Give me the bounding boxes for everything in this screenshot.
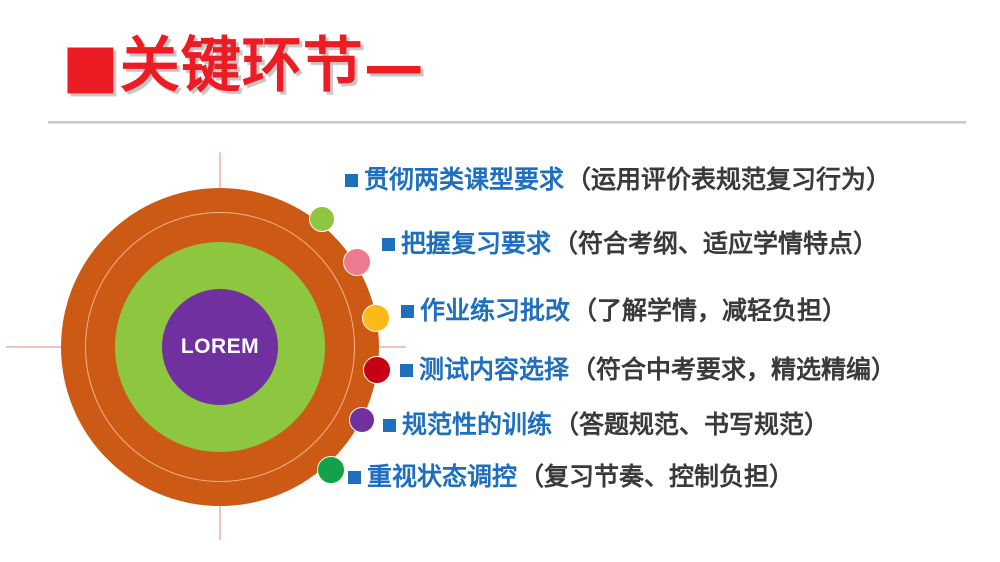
bullet-key-5: 规范性的训练 [402,411,552,440]
page-title: ■关键环节— [62,36,425,96]
bullet-row-4: 测试内容选择 （符合中考要求，精选精编） [400,356,896,385]
bullet-note-5: （答题规范、书写规范） [554,411,829,440]
square-bullet-icon [382,238,395,251]
bullet-note-4: （符合中考要求，精选精编） [571,356,896,385]
square-bullet-icon [345,174,358,187]
slide-title-block: ■关键环节— [62,28,425,104]
square-bullet-icon [383,419,396,432]
bullet-note-6: （复习节奏、控制负担） [519,463,794,492]
bullet-key-4: 测试内容选择 [419,356,569,385]
slide-canvas: ■关键环节— LOREM 贯彻两类课型要求 （运用评价表规范复习行为） 把握复习… [0,0,1000,562]
bullet-key-3: 作业练习批改 [420,297,570,326]
bullet-key-1: 贯彻两类课型要求 [364,166,564,195]
bullet-row-6: 重视状态调控 （复习节奏、控制负担） [348,463,794,492]
bullet-list: 贯彻两类课型要求 （运用评价表规范复习行为） 把握复习要求 （符合考纲、适应学情… [0,140,1000,560]
bullet-note-3: （了解学情，减轻负担） [572,297,847,326]
bullet-note-1: （运用评价表规范复习行为） [566,166,891,195]
square-bullet-icon [400,364,413,377]
square-bullet-icon [348,471,361,484]
bullet-row-1: 贯彻两类课型要求 （运用评价表规范复习行为） [345,166,891,195]
bullet-row-3: 作业练习批改 （了解学情，减轻负担） [401,297,847,326]
bullet-note-2: （符合考纲、适应学情特点） [553,230,878,259]
bullet-key-2: 把握复习要求 [401,230,551,259]
title-divider [48,121,966,124]
square-bullet-icon [401,305,414,318]
bullet-key-6: 重视状态调控 [367,463,517,492]
bullet-row-2: 把握复习要求 （符合考纲、适应学情特点） [382,230,878,259]
bullet-row-5: 规范性的训练 （答题规范、书写规范） [383,411,829,440]
